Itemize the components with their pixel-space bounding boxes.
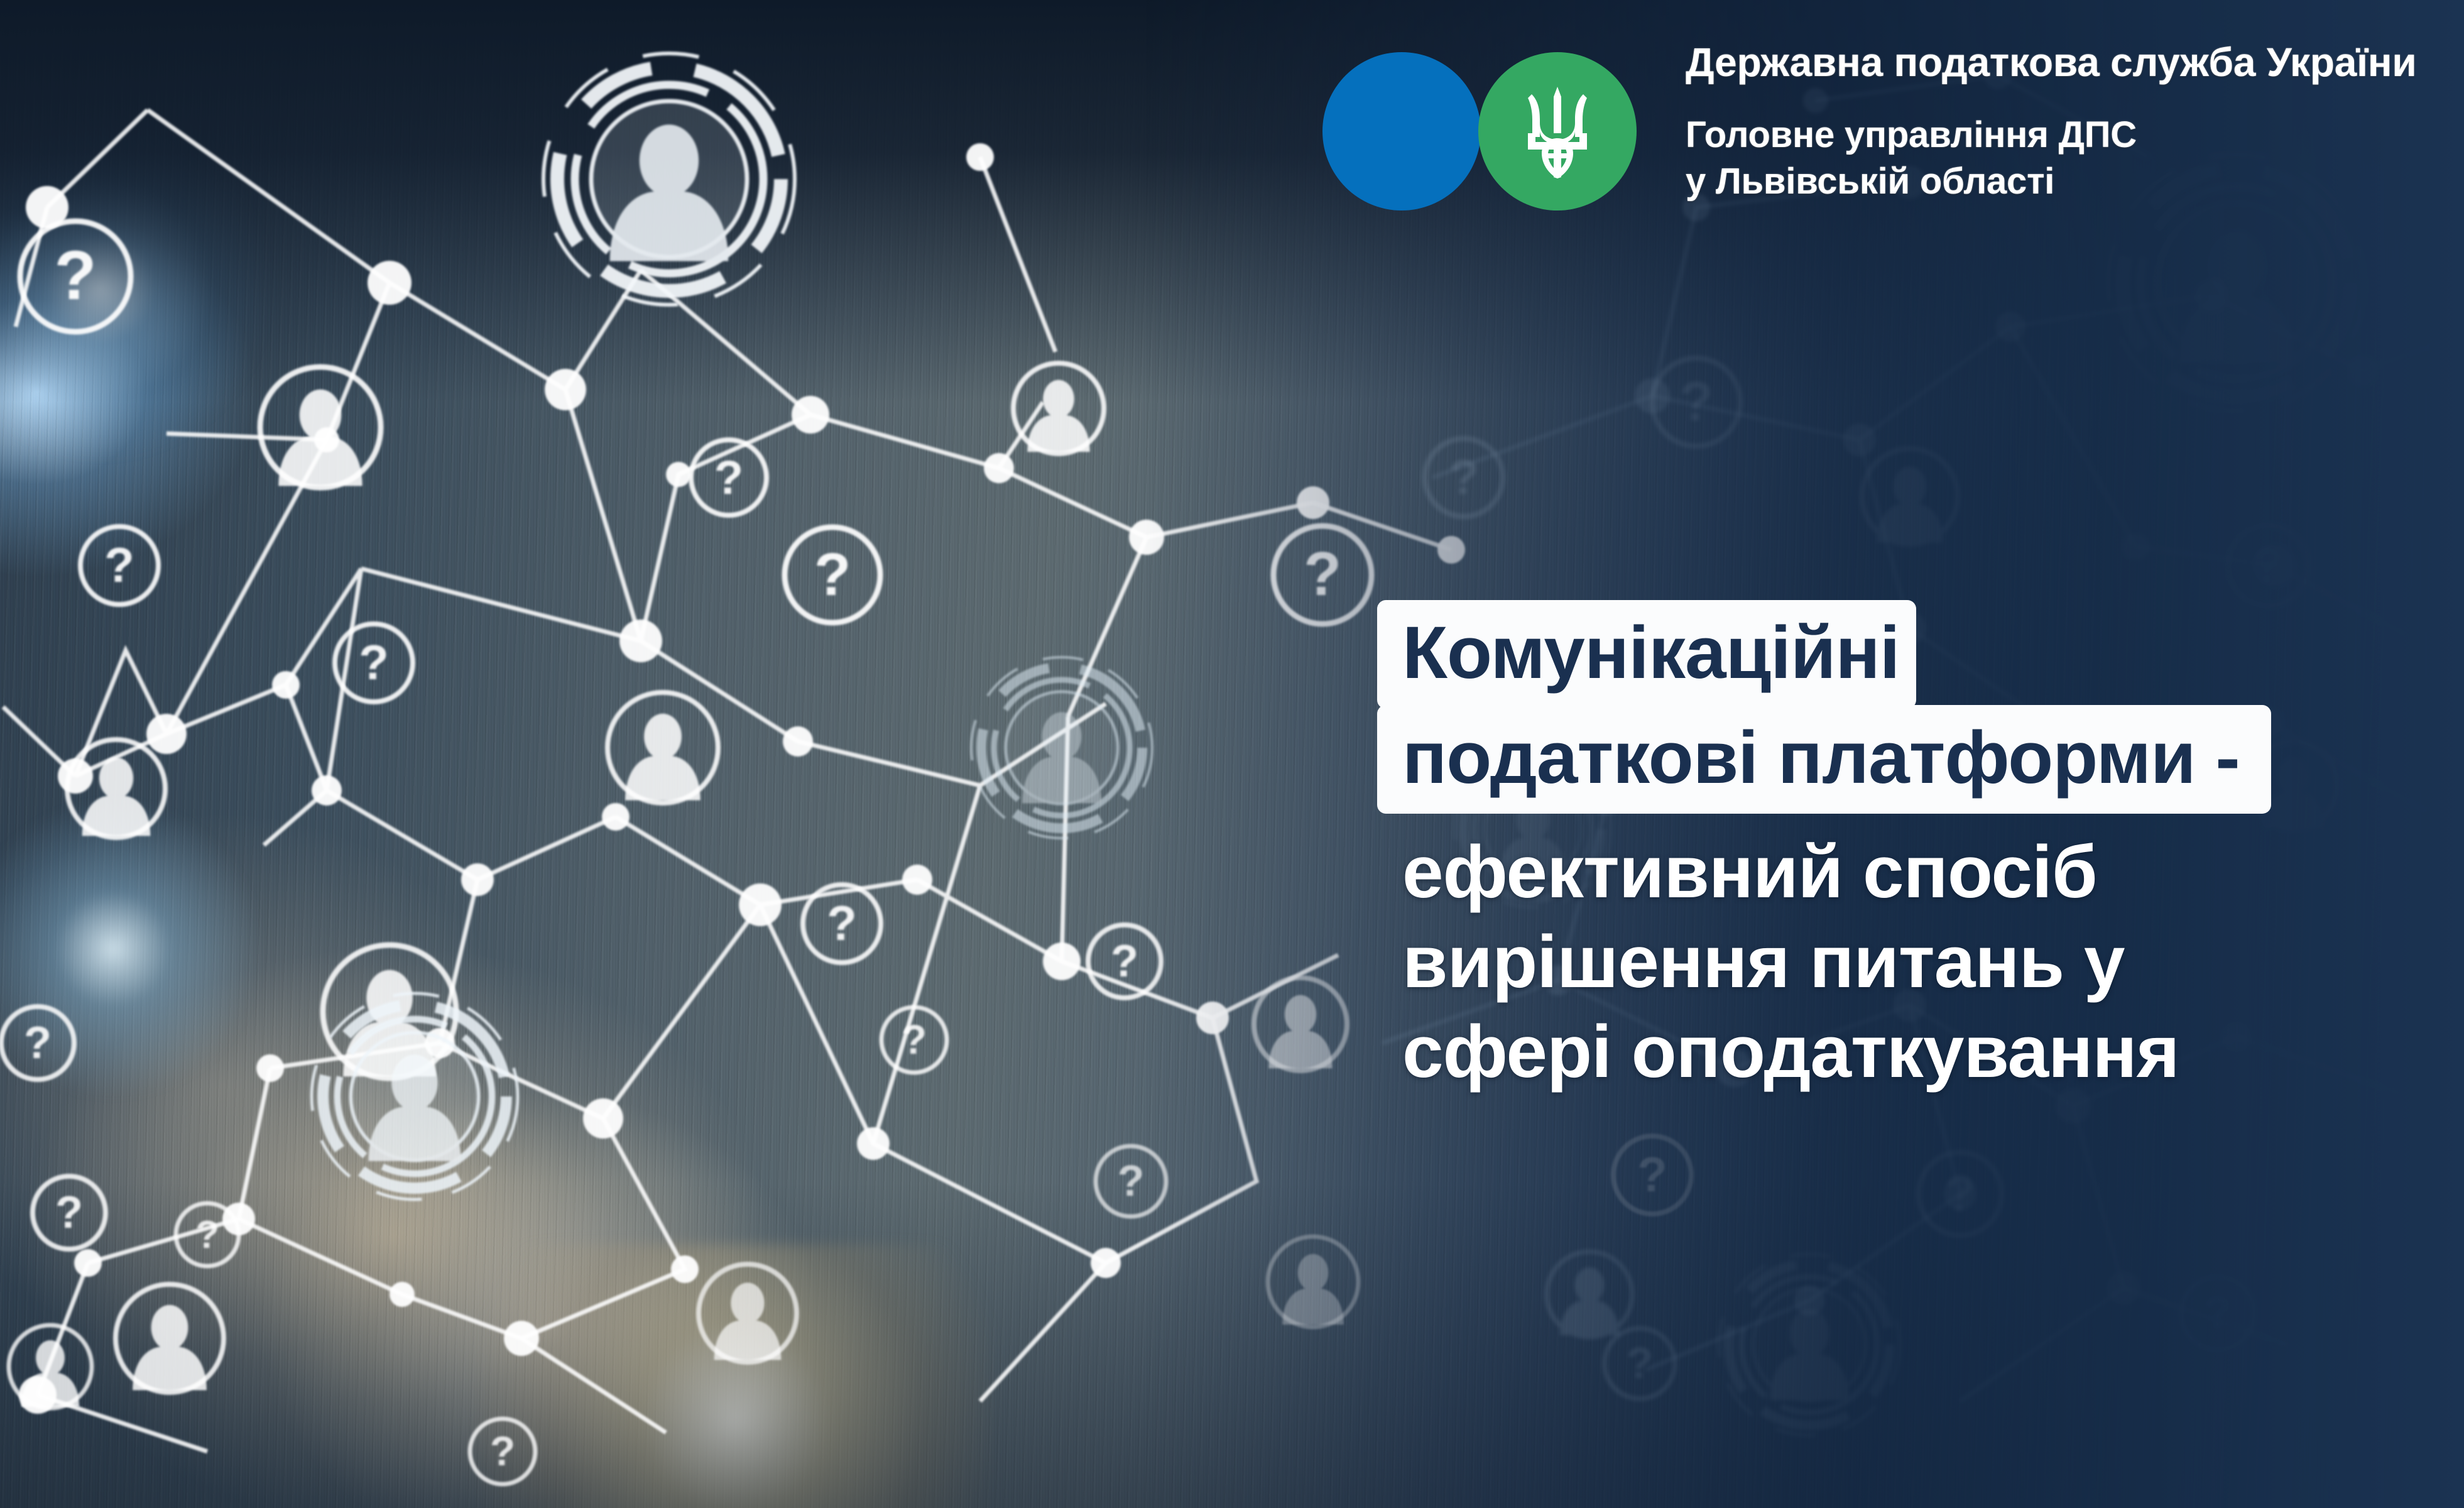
- title-line-2: податкові платформи -: [1377, 705, 2271, 814]
- question-mark-icon: ?: [20, 221, 131, 332]
- logo-blue-circle-icon: [1322, 52, 1481, 210]
- svg-text:?: ?: [54, 237, 96, 314]
- ukrainian-trident-emblem-icon: [1523, 84, 1592, 178]
- question-mark-icon: ?: [691, 440, 766, 515]
- agency-header: Державна податкова служба України Головн…: [1686, 41, 2464, 205]
- svg-text:?: ?: [1118, 1156, 1145, 1205]
- svg-text:?: ?: [24, 1018, 52, 1068]
- logo-green-circle-icon: [1478, 52, 1637, 210]
- svg-text:?: ?: [490, 1428, 515, 1474]
- agency-name-line-2: Головне управління ДПС: [1686, 112, 2464, 158]
- title-line-5: сфері оподаткування: [1377, 1007, 2445, 1097]
- svg-text:?: ?: [1111, 936, 1138, 986]
- question-mark-icon: ?: [881, 1007, 947, 1073]
- title-row-1: Комунікаційні: [1377, 600, 2445, 709]
- person-icon: [260, 367, 381, 488]
- agency-logo: [1322, 52, 1637, 214]
- person-icon: [116, 1284, 224, 1392]
- title-line-1: Комунікаційні: [1377, 600, 1916, 709]
- svg-text:?: ?: [195, 1213, 219, 1257]
- person-icon: [608, 692, 718, 803]
- svg-text:?: ?: [359, 635, 389, 690]
- question-mark-icon: ?: [33, 1176, 106, 1249]
- title-line-3: ефективний спосіб: [1377, 828, 2445, 917]
- svg-text:?: ?: [55, 1188, 83, 1238]
- agency-name-line-1: Державна податкова служба України: [1686, 41, 2464, 84]
- question-mark-icon: ?: [470, 1419, 535, 1484]
- person-icon: [1013, 363, 1104, 454]
- person-icon: [699, 1264, 797, 1362]
- svg-text:?: ?: [104, 537, 134, 593]
- title-line-4: вирішення питань у: [1377, 917, 2445, 1007]
- svg-text:?: ?: [814, 541, 851, 608]
- svg-text:?: ?: [714, 451, 743, 505]
- question-mark-icon: ?: [80, 527, 158, 604]
- person-icon: [9, 1325, 92, 1408]
- question-mark-icon: ?: [785, 527, 880, 623]
- question-mark-icon: ?: [803, 885, 881, 963]
- question-mark-icon: ?: [1, 1007, 74, 1079]
- svg-text:?: ?: [902, 1016, 927, 1063]
- agency-name-line-3: у Львівській області: [1686, 158, 2464, 205]
- hud-ring-icon-primary: [543, 53, 795, 305]
- hud-ring-icon-center: [971, 657, 1152, 838]
- hud-ring-icon-bottom: [312, 993, 518, 1199]
- page-title: Комунікаційні податкові платформи - ефек…: [1377, 600, 2445, 1096]
- banner-root: ? ? ? ? ? ? ?: [0, 0, 2464, 1508]
- svg-text:?: ?: [827, 895, 857, 951]
- title-row-2: податкові платформи -: [1377, 709, 2445, 814]
